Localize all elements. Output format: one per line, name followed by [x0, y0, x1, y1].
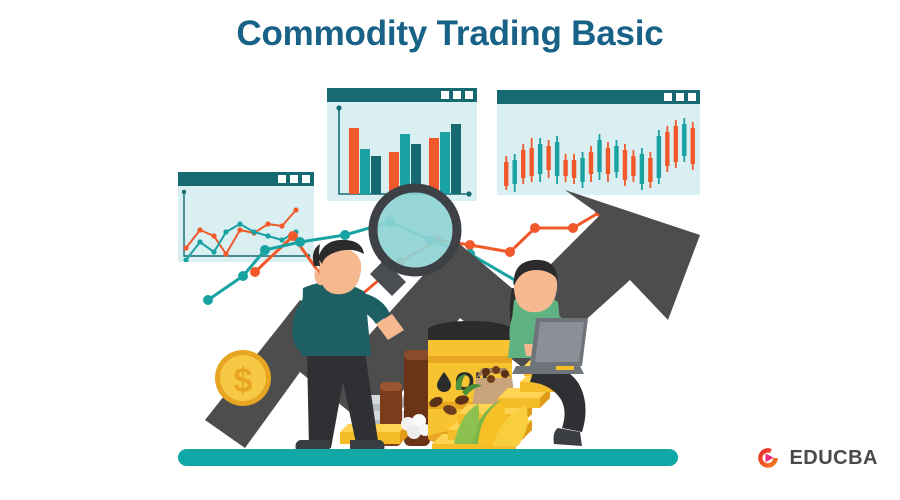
educba-wordmark: EDUCBA — [789, 447, 878, 470]
educba-mark-icon — [754, 444, 782, 472]
illustration-svg: $ — [0, 0, 900, 500]
poster-canvas: Commodity Trading Basic — [0, 0, 900, 500]
educba-logo[interactable]: EDUCBA — [754, 444, 878, 472]
dollar-coin: $ — [215, 350, 271, 406]
dollar-sign-label: $ — [234, 362, 253, 400]
ground-platform — [178, 449, 678, 466]
commodity-illustration: $ — [0, 0, 900, 500]
